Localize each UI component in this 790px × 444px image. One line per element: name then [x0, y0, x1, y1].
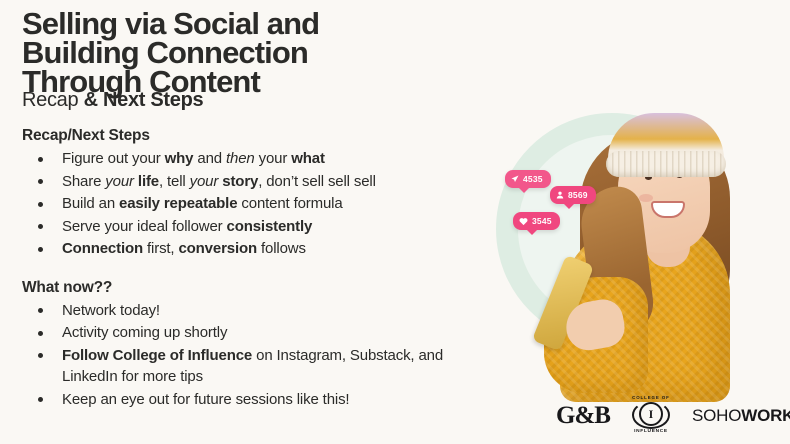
bullet-text-run: life	[138, 173, 159, 190]
bullet-text-run: Connection	[62, 240, 143, 257]
bullet-dot	[38, 179, 43, 184]
bullet-text-run: , tell	[159, 173, 190, 190]
section-heading-recap: Recap/Next Steps	[22, 126, 452, 145]
page-title: Selling via Social and Building Connecti…	[22, 9, 452, 96]
bullet-text-run: easily repeatable	[119, 195, 237, 212]
soho-bold: WORKS	[741, 406, 790, 425]
bullet-text-run: consistently	[227, 218, 313, 235]
bullet-text-run: Keep an eye out for future sessions like…	[62, 391, 349, 408]
logo-row: G&B COLLEGE OF I INFLUENCE SOHOWORKS	[556, 396, 790, 434]
bullet-dot	[38, 331, 43, 336]
list-item: Keep an eye out for future sessions like…	[22, 389, 452, 411]
bubble-value: 4535	[523, 174, 543, 184]
list-item: Serve your ideal follower consistently	[22, 216, 452, 238]
bullet-dot	[38, 247, 43, 252]
bullet-text-run: , don’t sell sell sell	[258, 173, 376, 190]
list-item: Network today!	[22, 300, 452, 322]
bullet-dot	[38, 308, 43, 313]
bullet-text-run: your	[105, 173, 134, 190]
share-icon	[511, 175, 519, 183]
section-heading-what-now: What now??	[22, 278, 452, 297]
person-illustration	[440, 55, 790, 400]
list-item: Build an easily repeatable content formu…	[22, 193, 452, 215]
bullet-list-recap: Figure out your why and then your whatSh…	[22, 148, 452, 260]
bubble-value: 3545	[532, 216, 552, 226]
content-column: Recap/Next Steps Figure out your why and…	[22, 126, 452, 411]
crest-top-text: COLLEGE OF	[628, 395, 674, 400]
beanie-brim	[606, 151, 726, 177]
bullet-text-run: Network today!	[62, 302, 160, 319]
title-line-1: Selling via Social and	[22, 9, 452, 38]
logo-gb: G&B	[556, 403, 610, 428]
soho-light: SOHO	[692, 406, 741, 425]
bullet-dot	[38, 202, 43, 207]
list-item: Follow College of Influence on Instagram…	[22, 345, 452, 388]
heart-icon	[519, 217, 528, 226]
person-icon	[556, 191, 564, 199]
list-item: Share your life, tell your story, don’t …	[22, 171, 452, 193]
logo-soho-works: SOHOWORKS	[692, 407, 790, 424]
bullet-text-run: conversion	[178, 240, 257, 257]
bullet-text-run: why	[165, 150, 194, 167]
bullet-text-run: first,	[143, 240, 178, 257]
title-line-2: Building Connection	[22, 38, 452, 67]
cheek	[639, 194, 653, 202]
bullet-dot	[38, 397, 43, 402]
notification-bubble-likes: 3545	[513, 212, 560, 230]
page-subtitle: Recap & Next Steps	[22, 89, 203, 111]
bullet-text-run: Share	[62, 173, 105, 190]
bullet-text-run: Serve your ideal follower	[62, 218, 227, 235]
subtitle-bold: & Next Steps	[84, 89, 204, 111]
bullet-text-run: then	[226, 150, 255, 167]
bullet-list-what-now: Network today!Activity coming up shortly…	[22, 300, 452, 411]
bullet-text-run: Activity coming up shortly	[62, 324, 227, 341]
crest-letter: I	[649, 408, 654, 420]
hero-photo: 4535 8569 3545	[440, 55, 790, 400]
bullet-text-run: content formula	[237, 195, 342, 212]
bullet-dot	[38, 224, 43, 229]
list-item: Connection first, conversion follows	[22, 238, 452, 260]
notification-bubble-shares: 4535	[505, 170, 551, 188]
bullet-text-run: your	[190, 173, 219, 190]
bullet-text-run: what	[291, 150, 325, 167]
bullet-text-run: Figure out your	[62, 150, 165, 167]
crest-bottom-text: INFLUENCE	[628, 429, 674, 434]
logo-college-of-influence: COLLEGE OF I INFLUENCE	[628, 395, 674, 435]
notification-bubble-followers: 8569	[550, 186, 596, 204]
list-item: Figure out your why and then your what	[22, 148, 452, 170]
list-item: Activity coming up shortly	[22, 322, 452, 344]
bullet-text-run: Build an	[62, 195, 119, 212]
subtitle-regular: Recap	[22, 89, 84, 111]
bubble-value: 8569	[568, 190, 588, 200]
bullet-dot	[38, 157, 43, 162]
bullet-text-run: and	[193, 150, 226, 167]
crest-ring: I	[639, 402, 663, 426]
bullet-text-run: Follow College of Influence	[62, 347, 252, 364]
slide-canvas: Selling via Social and Building Connecti…	[0, 0, 790, 444]
bullet-dot	[38, 353, 43, 358]
bullet-text-run: story	[222, 173, 258, 190]
bullet-text-run: your	[255, 150, 292, 167]
bullet-text-run: follows	[257, 240, 306, 257]
